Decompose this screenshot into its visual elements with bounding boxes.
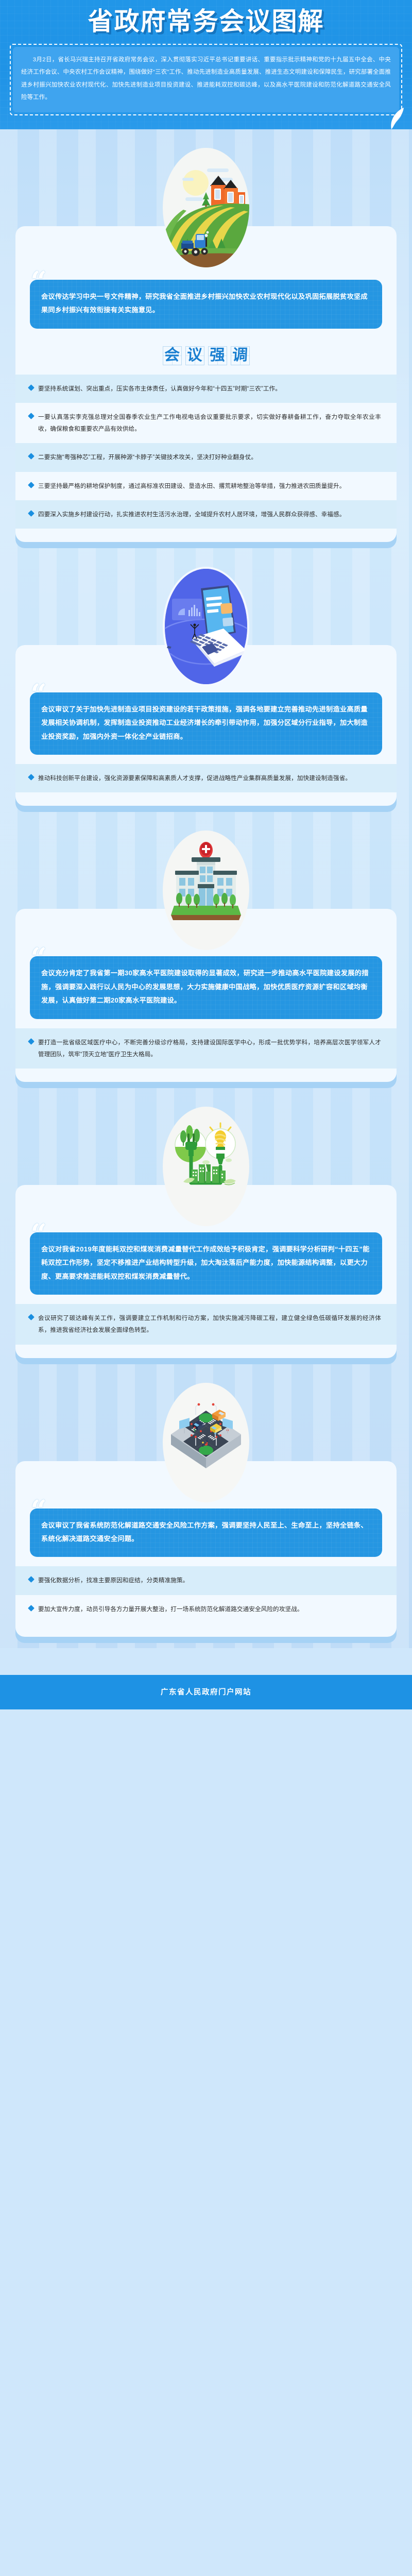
bottom-spacer: [0, 1643, 412, 1648]
list-item-text: 一要认真落实李克强总理对全国春季农业生产工作电视电话会议重要批示要求，切实做好春…: [38, 411, 381, 435]
list-item-text: 推动科技创新平台建设，强化资源要素保障和高素质人才支撑，促进战略性产业集群高质量…: [38, 772, 351, 784]
diamond-bullet-icon: [28, 1314, 35, 1320]
quote-mark-icon: “: [31, 1497, 46, 1524]
quote-block: “ 会议传达学习中央一号文件精神，研究我省全面推进乡村振兴加快农业农村现代化以及…: [30, 280, 382, 329]
quote-text: 会议审议了我省系统防范化解道路交通安全风险工作方案，强调要坚持人民至上、生命至上…: [41, 1519, 371, 1546]
quote-box: 会议审议了关于加快先进制造业项目投资建设的若干政策措施，强调各地要建立完善推动先…: [30, 692, 382, 755]
farm-village-tractor-illustration: [163, 148, 249, 267]
intro-dashed-frame: 3月2日，省长马兴瑞主持召开省政府常务会议，深入贯彻落实习近平总书记重要讲话、重…: [10, 44, 402, 115]
list-item: 四要深入实施乡村建设行动，扎实推进农村生活污水治理，全域提升农村人居环境，增强人…: [15, 500, 397, 529]
section-rural-revitalization: “ 会议传达学习中央一号文件精神，研究我省全面推进乡村振兴加快农业农村现代化以及…: [15, 129, 397, 548]
section-advanced-manufacturing: “ 会议审议了关于加快先进制造业项目投资建设的若干政策措施，强调各地要建立完善推…: [15, 548, 397, 812]
footer-site-name: 广东省人民政府门户网站: [0, 1686, 412, 1697]
list-item-text: 会议研究了碳达峰有关工作，强调要建立工作机制和行动方案，加快实施减污降碳工程，建…: [38, 1312, 381, 1336]
headline-huiyi-qiangdiao: 会 议 强 调: [15, 346, 397, 365]
list-item: 要加大宣传力度，动员引导各方力量开展大整治，打一场系统防范化解道路交通安全风险的…: [15, 1595, 397, 1623]
diamond-bullet-icon: [28, 482, 35, 488]
quote-mark-icon: “: [31, 945, 46, 972]
headline-char: 调: [232, 348, 248, 363]
list-item: 一要认真落实李克强总理对全国春季农业生产工作电视电话会议重要批示要求，切实做好春…: [15, 403, 397, 443]
quote-mark-icon: “: [31, 1221, 46, 1248]
feather-quill-icon: [388, 107, 406, 129]
quote-mark-icon: “: [31, 268, 46, 295]
list-item: 会议研究了碳达峰有关工作，强调要建立工作机制和行动方案，加快实施减污降碳工程，建…: [15, 1304, 397, 1344]
quote-block: “ 会议充分肯定了我省第一期30家高水平医院建设取得的显著成效，研究进一步推动高…: [30, 956, 382, 1019]
diamond-bullet-icon: [28, 453, 35, 460]
intro-wrapper: 3月2日，省长马兴瑞主持召开省政府常务会议，深入贯彻落实习近平总书记重要讲话、重…: [7, 41, 405, 118]
headline-grid-cell: 会: [163, 346, 182, 365]
quote-text: 会议审议了关于加快先进制造业项目投资建设的若干政策措施，强调各地要建立完善推动先…: [41, 703, 371, 743]
page-footer: 广东省人民政府门户网站: [0, 1675, 412, 1709]
bullet-list: 推动科技创新平台建设，强化资源要素保障和高素质人才支撑，促进战略性产业集群高质量…: [15, 764, 397, 792]
green-energy-plug-bulb-city-illustration: [163, 1107, 249, 1226]
diamond-bullet-icon: [28, 1605, 35, 1612]
list-item-text: 要加大宣传力度，动员引导各方力量开展大整治，打一场系统防范化解道路交通安全风险的…: [38, 1603, 303, 1615]
headline-grid-cell: 强: [208, 346, 227, 365]
headline-char: 强: [209, 348, 226, 363]
diamond-bullet-icon: [28, 1038, 35, 1045]
section-road-traffic-safety: “ 会议审议了我省系统防范化解道路交通安全风险工作方案，强调要坚持人民至上、生命…: [15, 1364, 397, 1643]
intro-box: 3月2日，省长马兴瑞主持召开省政府常务会议，深入贯彻落实习近平总书记重要讲话、重…: [13, 47, 399, 112]
list-item-text: 三要坚持最严格的耕地保护制度，通过高标准农田建设、垦造水田、撂荒耕地整治等举措，…: [38, 480, 345, 492]
list-item: 二要实施“粤强种芯”工程，开展种源“卡脖子”关键技术攻关，坚决打好种业翻身仗。: [15, 443, 397, 471]
quote-text: 会议充分肯定了我省第一期30家高水平医院建设取得的显著成效，研究进一步推动高水平…: [41, 967, 371, 1007]
laptop-data-chart-illustration: [163, 567, 249, 686]
quote-block: “ 会议审议了关于加快先进制造业项目投资建设的若干政策措施，强调各地要建立完善推…: [30, 692, 382, 755]
bullet-list: 要强化数据分析，找准主要原因和症结，分类精准施策。 要加大宣传力度，动员引导各方…: [15, 1566, 397, 1623]
list-item-text: 四要深入实施乡村建设行动，扎实推进农村生活污水治理，全域提升农村人居环境，增强人…: [38, 509, 345, 520]
section-card: “ 会议传达学习中央一号文件精神，研究我省全面推进乡村振兴加快农业农村现代化以及…: [15, 226, 397, 542]
quote-text: 会议对我省2019年度能耗双控和煤炭消费减量替代工作成效给予积极肯定，强调要科学…: [41, 1243, 371, 1283]
list-item: 要打造一批省级区域医疗中心，不断完善分级诊疗格局，支持建设国际医学中心，形成一批…: [15, 1028, 397, 1069]
diamond-bullet-icon: [28, 510, 35, 517]
list-item-text: 要强化数据分析，找准主要原因和症结，分类精准施策。: [38, 1574, 188, 1586]
quote-mark-icon: “: [31, 681, 46, 708]
bullet-list: 要坚持系统谋划、突出重点，压实各市主体责任，认真做好今年和“十四五”时期“三农”…: [15, 375, 397, 529]
quote-block: “ 会议对我省2019年度能耗双控和煤炭消费减量替代工作成效给予积极肯定，强调要…: [30, 1232, 382, 1295]
diamond-bullet-icon: [28, 1576, 35, 1583]
diamond-bullet-icon: [28, 774, 35, 781]
quote-block: “ 会议审议了我省系统防范化解道路交通安全风险工作方案，强调要坚持人民至上、生命…: [30, 1509, 382, 1557]
list-item: 三要坚持最严格的耕地保护制度，通过高标准农田建设、垦造水田、撂荒耕地整治等举措，…: [15, 472, 397, 500]
content-area: “ 会议传达学习中央一号文件精神，研究我省全面推进乡村振兴加快农业农村现代化以及…: [0, 129, 412, 1648]
list-item: 推动科技创新平台建设，强化资源要素保障和高素质人才支撑，促进战略性产业集群高质量…: [15, 764, 397, 792]
intro-paragraph: 3月2日，省长马兴瑞主持召开省政府常务会议，深入贯彻落实习近平总书记重要讲话、重…: [21, 54, 391, 104]
list-item: 要坚持系统谋划、突出重点，压实各市主体责任，认真做好今年和“十四五”时期“三农”…: [15, 375, 397, 403]
diamond-bullet-icon: [28, 413, 35, 419]
headline-char: 议: [186, 348, 203, 363]
quote-box: 会议充分肯定了我省第一期30家高水平医院建设取得的显著成效，研究进一步推动高水平…: [30, 956, 382, 1019]
page-header: 省政府常务会议图解 3月2日，省长马兴瑞主持召开省政府常务会议，深入贯彻落实习近…: [0, 0, 412, 129]
quote-box: 会议对我省2019年度能耗双控和煤炭消费减量替代工作成效给予积极肯定，强调要科学…: [30, 1232, 382, 1295]
headline-grid-cell: 调: [231, 346, 250, 365]
quote-box: 会议审议了我省系统防范化解道路交通安全风险工作方案，强调要坚持人民至上、生命至上…: [30, 1509, 382, 1557]
headline-grid-cell: 议: [185, 346, 204, 365]
list-item-text: 要坚持系统谋划、突出重点，压实各市主体责任，认真做好今年和“十四五”时期“三农”…: [38, 383, 281, 395]
quote-text: 会议传达学习中央一号文件精神，研究我省全面推进乡村振兴加快农业农村现代化以及巩固…: [41, 290, 371, 317]
hospital-building-illustration: [163, 831, 249, 950]
headline-char: 会: [164, 348, 180, 363]
quote-box: 会议传达学习中央一号文件精神，研究我省全面推进乡村振兴加快农业农村现代化以及巩固…: [30, 280, 382, 329]
section-energy-carbon-peak: “ 会议对我省2019年度能耗双控和煤炭消费减量替代工作成效给予积极肯定，强调要…: [15, 1088, 397, 1364]
diamond-bullet-icon: [28, 384, 35, 391]
bullet-list: 会议研究了碳达峰有关工作，强调要建立工作机制和行动方案，加快实施减污降碳工程，建…: [15, 1304, 397, 1344]
page-title: 省政府常务会议图解: [0, 7, 412, 41]
list-item-text: 要打造一批省级区域医疗中心，不断完善分级诊疗格局，支持建设国际医学中心，形成一批…: [38, 1037, 381, 1060]
list-item: 要强化数据分析，找准主要原因和症结，分类精准施策。: [15, 1566, 397, 1595]
bullet-list: 要打造一批省级区域医疗中心，不断完善分级诊疗格局，支持建设国际医学中心，形成一批…: [15, 1028, 397, 1069]
section-high-level-hospitals: “ 会议充分肯定了我省第一期30家高水平医院建设取得的显著成效，研究进一步推动高…: [15, 812, 397, 1088]
section-card-outer: “ 会议传达学习中央一号文件精神，研究我省全面推进乡村振兴加快农业农村现代化以及…: [15, 226, 397, 548]
isometric-traffic-intersection-illustration: [163, 1383, 249, 1502]
list-item-text: 二要实施“粤强种芯”工程，开展种源“卡脖子”关键技术攻关，坚决打好种业翻身仗。: [38, 451, 257, 463]
